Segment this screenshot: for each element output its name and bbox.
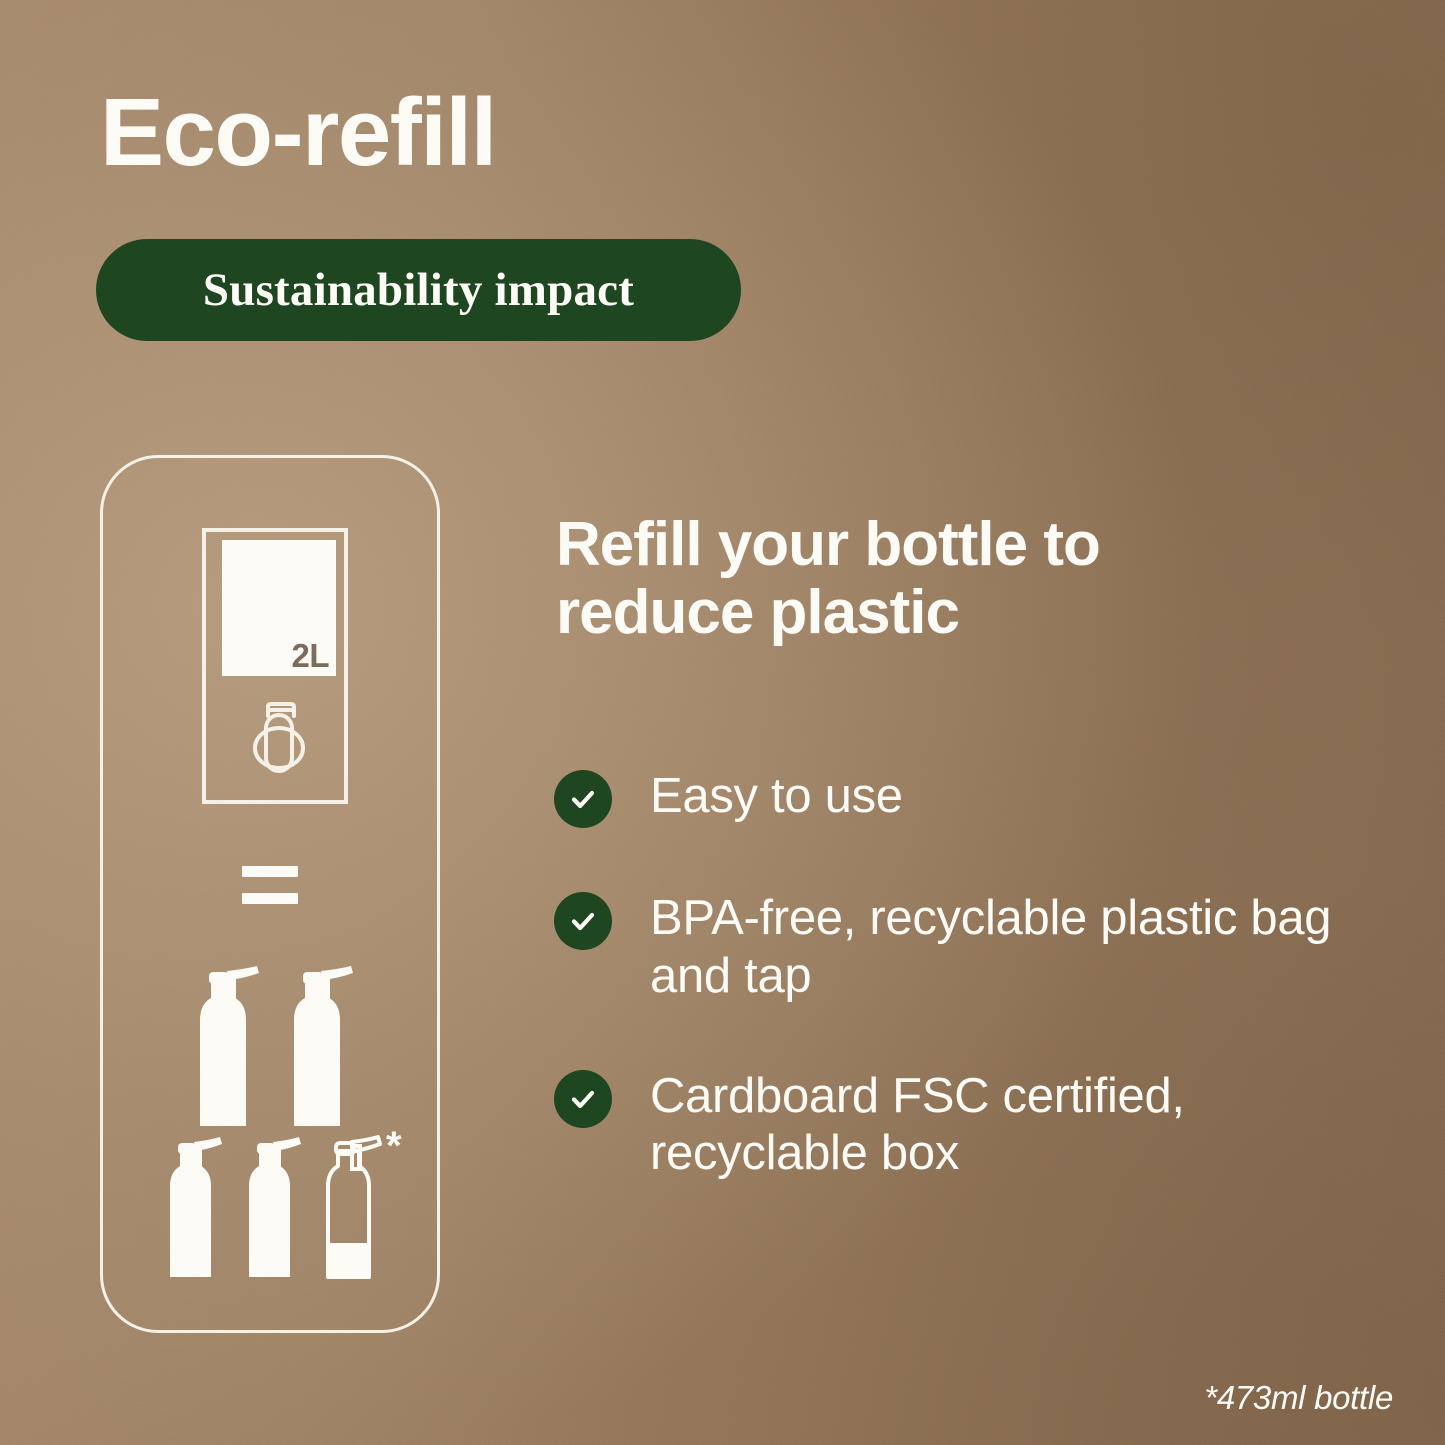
- sustainability-impact-badge: Sustainability impact: [96, 239, 741, 341]
- list-item-label: Easy to use: [650, 768, 903, 826]
- bottle-row-two: [183, 958, 357, 1130]
- benefits-list: Easy to use BPA-free, recyclable plastic…: [554, 768, 1384, 1183]
- pump-bottle-icon: [235, 1131, 305, 1281]
- page-title: Eco-refill: [100, 84, 496, 182]
- footnote-asterisk: *: [386, 1126, 402, 1166]
- list-item-label: Cardboard FSC certified, recyclable box: [650, 1068, 1384, 1184]
- pump-bottle-icon: [156, 1131, 226, 1281]
- list-item: Easy to use: [554, 768, 1384, 828]
- badge-label: Sustainability impact: [203, 263, 634, 317]
- tap-spout-icon: [248, 698, 310, 778]
- partial-pump-bottle-icon: [314, 1131, 384, 1281]
- carton-label-square: 2L: [222, 540, 336, 676]
- equals-sign-icon: [242, 866, 298, 904]
- check-icon: [554, 1070, 612, 1128]
- bottle-row-three: [156, 1131, 384, 1281]
- list-item-label: BPA-free, recyclable plastic bag and tap: [650, 890, 1384, 1006]
- list-item: Cardboard FSC certified, recyclable box: [554, 1068, 1384, 1184]
- list-item: BPA-free, recyclable plastic bag and tap: [554, 890, 1384, 1006]
- refill-carton-icon: 2L: [202, 528, 348, 804]
- check-icon: [554, 770, 612, 828]
- check-icon: [554, 892, 612, 950]
- equals-bar-top: [242, 866, 298, 877]
- carton-volume-label: 2L: [291, 639, 329, 672]
- eco-refill-infographic: Eco-refill Sustainability impact 2L: [0, 0, 1445, 1445]
- pump-bottle-icon: [183, 958, 263, 1130]
- eco-refill-comparison-panel: 2L: [100, 455, 440, 1333]
- equals-bar-bottom: [242, 893, 298, 904]
- footnote: *473ml bottle: [1204, 1379, 1393, 1417]
- pump-bottle-icon: [277, 958, 357, 1130]
- headline: Refill your bottle to reduce plastic: [556, 511, 1286, 647]
